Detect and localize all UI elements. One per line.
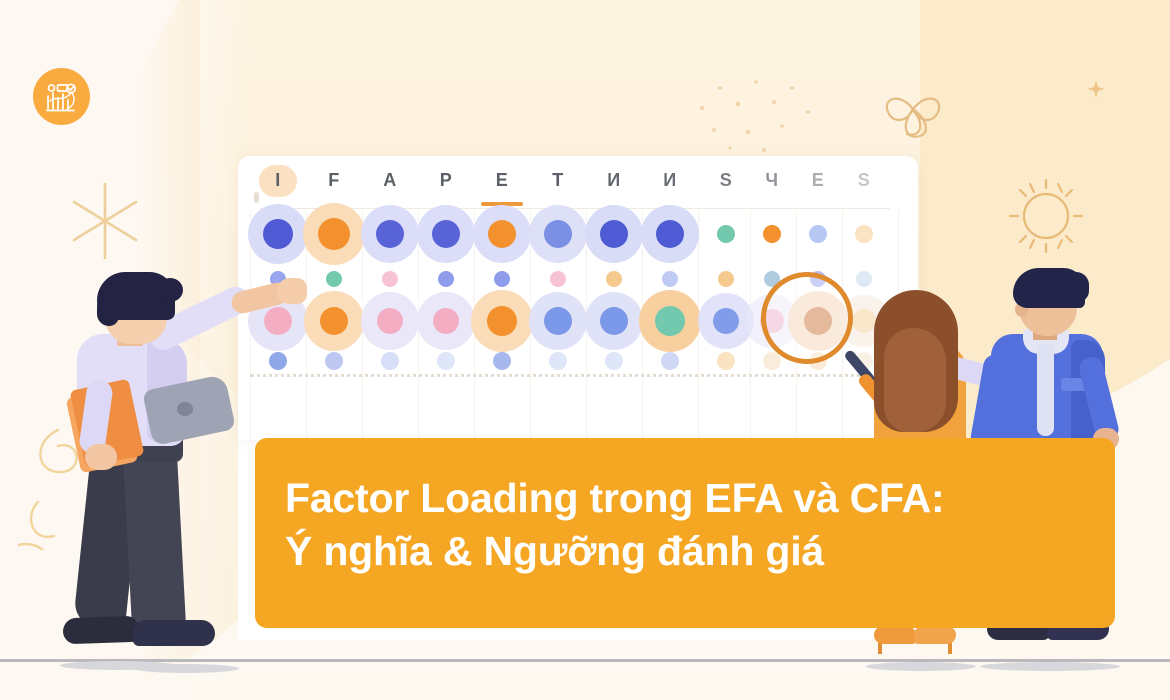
heatmap-dot-r0-c0[interactable] (263, 219, 293, 249)
header-letter-3[interactable]: P (433, 170, 459, 191)
heatmap-dot-r3-c1[interactable] (325, 352, 343, 370)
analytics-chart-logo-icon (44, 79, 80, 115)
heatmap-dot-r3-c7[interactable] (661, 352, 679, 370)
heatmap-dot-r2-c1[interactable] (320, 307, 348, 335)
header-letter-10[interactable]: E (805, 170, 831, 191)
header-letter-11[interactable]: S (851, 170, 877, 191)
header-letter-2[interactable]: A (377, 170, 403, 191)
heatmap-dot-r0-c8[interactable] (717, 225, 735, 243)
heatmap-dot-r0-c7[interactable] (656, 220, 684, 248)
heatmap-dot-r1-c5[interactable] (550, 271, 566, 287)
title-banner: Factor Loading trong EFA và CFA: Ý nghĩa… (255, 438, 1115, 628)
heatmap-dot-r0-c5[interactable] (544, 220, 572, 248)
title-line-2: Ý nghĩa & Ngưỡng đánh giá (285, 525, 1115, 578)
left-man-back-shoe (63, 616, 140, 645)
heatmap-dot-r3-c4[interactable] (493, 352, 511, 370)
heatmap-dot-r1-c6[interactable] (606, 271, 622, 287)
header-letter-0[interactable]: I (265, 170, 291, 191)
header-letter-7[interactable]: И (657, 170, 683, 191)
header-tick-mark (254, 192, 259, 203)
header-rule (260, 208, 890, 209)
heatmap-dot-r0-c4[interactable] (488, 220, 516, 248)
heatmap-dot-r1-c4[interactable] (494, 271, 510, 287)
heatmap-dot-r1-c8[interactable] (718, 271, 734, 287)
heatmap-dot-r3-c2[interactable] (381, 352, 399, 370)
header-letter-8[interactable]: S (713, 170, 739, 191)
woman-right-shoe (914, 626, 956, 644)
heatmap-dot-r3-c8[interactable] (717, 352, 735, 370)
heatmap-dot-r2-c7[interactable] (655, 306, 685, 336)
header-letter-1[interactable]: F (321, 170, 347, 191)
heatmap-dot-r1-c1[interactable] (326, 271, 342, 287)
heatmap-dot-r0-c3[interactable] (432, 220, 460, 248)
header-letter-4[interactable]: E (489, 170, 515, 191)
heatmap-dot-r0-c10[interactable] (809, 225, 827, 243)
heatmap-dot-r0-c1[interactable] (318, 218, 350, 250)
poster-canvas: IFAPETИИSЧES (0, 0, 1170, 700)
magnifying-glass-icon[interactable] (761, 272, 853, 364)
heatmap-dot-r1-c11[interactable] (856, 271, 872, 287)
right-man-tie (1037, 344, 1054, 436)
heatmap-dot-r2-c2[interactable] (377, 308, 403, 334)
dotted-separator (250, 374, 910, 377)
left-man-lower-hand (85, 444, 117, 470)
woman-left-shoe (874, 626, 916, 644)
heatmap-dot-r0-c6[interactable] (600, 220, 628, 248)
heatmap-dot-r3-c5[interactable] (549, 352, 567, 370)
title-line-1: Factor Loading trong EFA và CFA: (285, 472, 1115, 525)
heatmap-dot-r2-c5[interactable] (544, 307, 572, 335)
heatmap-dot-r2-c4[interactable] (487, 306, 517, 336)
header-letter-5[interactable]: T (545, 170, 571, 191)
heatmap-dot-r2-c6[interactable] (600, 307, 628, 335)
header-letter-9[interactable]: Ч (759, 170, 785, 191)
laptop-logo-dot (177, 402, 193, 416)
left-man-hair-bun (157, 278, 183, 302)
header-letter-6[interactable]: И (601, 170, 627, 191)
heatmap-dot-r1-c3[interactable] (438, 271, 454, 287)
right-man-hair-quiff (1067, 272, 1089, 302)
brand-logo[interactable] (33, 68, 90, 125)
heatmap-dot-r2-c3[interactable] (433, 308, 459, 334)
heatmap-dot-r1-c7[interactable] (662, 271, 678, 287)
heatmap-dot-r3-c6[interactable] (605, 352, 623, 370)
heatmap-dot-r0-c2[interactable] (376, 220, 404, 248)
heatmap-dot-r2-c8[interactable] (713, 308, 739, 334)
woman-hair-highlight (884, 328, 946, 432)
left-man-front-shoe (133, 620, 215, 646)
heatmap-dot-r0-c9[interactable] (763, 225, 781, 243)
left-man-sideburn (97, 294, 119, 326)
heatmap-dot-r3-c3[interactable] (437, 352, 455, 370)
heatmap-dot-r0-c11[interactable] (855, 225, 873, 243)
chart-column-header: IFAPETИИSЧES (238, 156, 918, 210)
heatmap-dot-r1-c2[interactable] (382, 271, 398, 287)
left-man-pointing-hand (277, 278, 307, 304)
